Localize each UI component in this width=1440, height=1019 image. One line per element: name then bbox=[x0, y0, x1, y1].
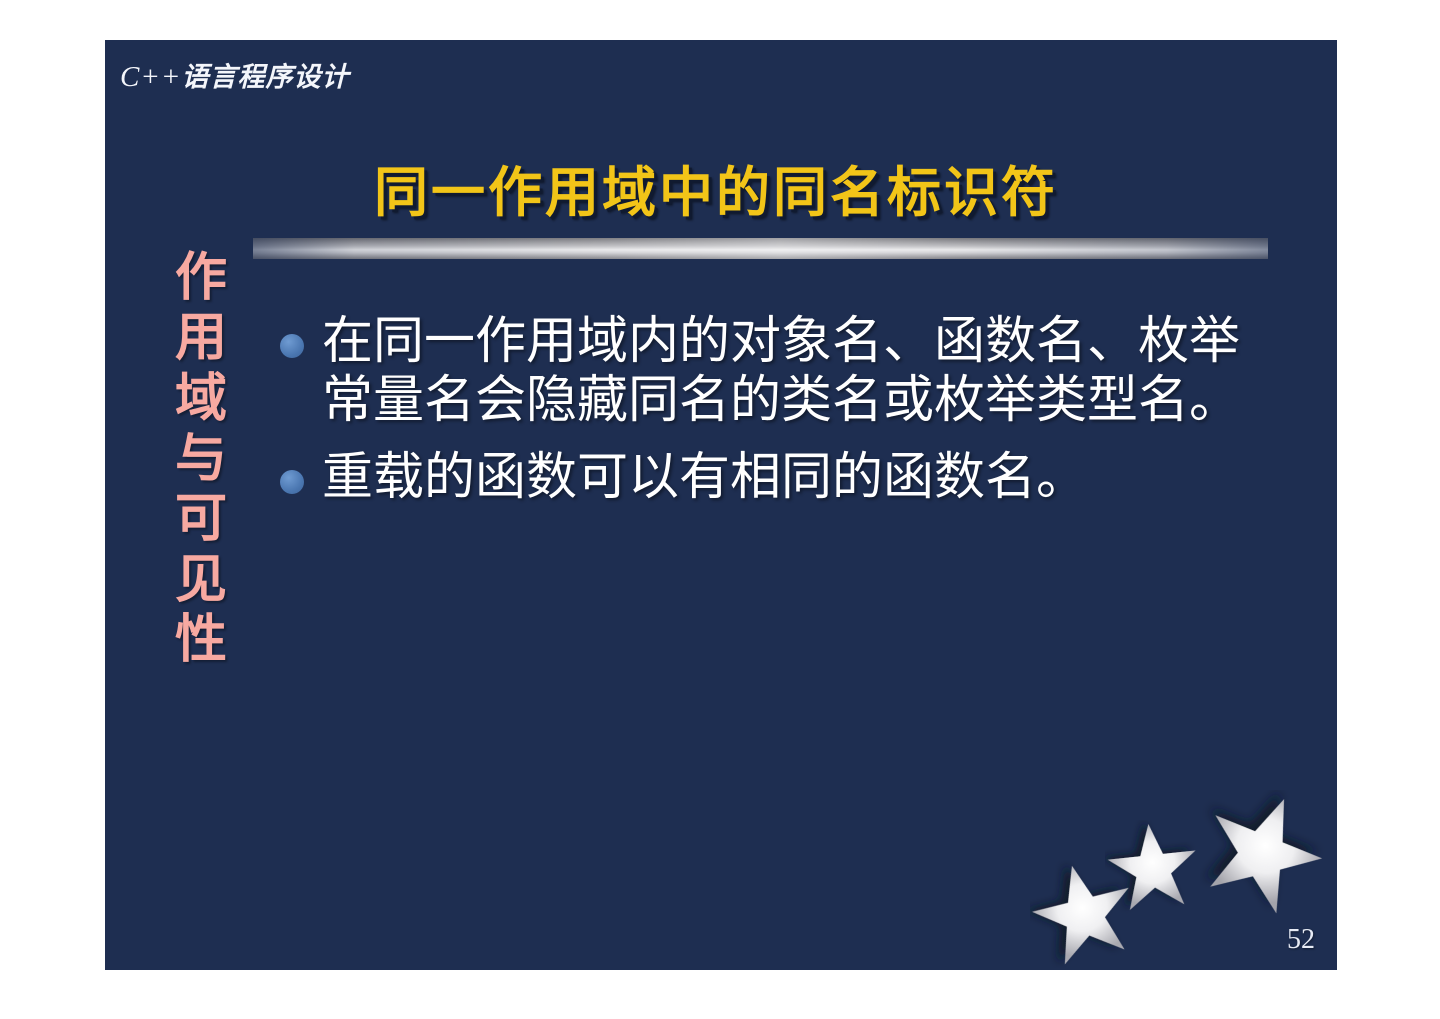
vertical-section-label: 作 用 域 与 可 见 性 bbox=[157, 248, 245, 670]
bullet-circle-icon bbox=[280, 334, 304, 358]
page-number: 52 bbox=[1287, 924, 1315, 956]
bullet-list: 在同一作用域内的对象名、函数名、枚举常量名会隐藏同名的类名或枚举类型名。 重载的… bbox=[280, 312, 1280, 525]
list-item: 在同一作用域内的对象名、函数名、枚举常量名会隐藏同名的类名或枚举类型名。 bbox=[280, 312, 1280, 430]
list-item-text: 在同一作用域内的对象名、函数名、枚举常量名会隐藏同名的类名或枚举类型名。 bbox=[322, 312, 1280, 430]
vertical-label-char: 与 bbox=[157, 429, 245, 489]
vertical-label-char: 作 bbox=[157, 248, 245, 308]
star-icon bbox=[1200, 790, 1325, 915]
course-title-cjk: 语言程序设计 bbox=[181, 62, 349, 92]
star-icon bbox=[1030, 860, 1138, 968]
vertical-label-char: 可 bbox=[157, 489, 245, 549]
metallic-divider-bar bbox=[253, 238, 1268, 259]
course-title-header: C++语言程序设计 bbox=[120, 55, 349, 94]
course-title-latin: C++ bbox=[120, 61, 181, 93]
vertical-label-char: 用 bbox=[157, 308, 245, 368]
screenshot-canvas: C++语言程序设计 同一作用域中的同名标识符 作 用 域 与 可 见 性 在同一… bbox=[0, 0, 1440, 1019]
presentation-slide: C++语言程序设计 同一作用域中的同名标识符 作 用 域 与 可 见 性 在同一… bbox=[105, 40, 1337, 970]
vertical-label-char: 性 bbox=[157, 610, 245, 670]
list-item-text: 重载的函数可以有相同的函数名。 bbox=[322, 448, 1280, 507]
vertical-label-char: 域 bbox=[157, 369, 245, 429]
list-item: 重载的函数可以有相同的函数名。 bbox=[280, 448, 1280, 507]
vertical-label-char: 见 bbox=[157, 550, 245, 610]
slide-title: 同一作用域中的同名标识符 bbox=[105, 148, 1337, 227]
bullet-circle-icon bbox=[280, 470, 304, 494]
